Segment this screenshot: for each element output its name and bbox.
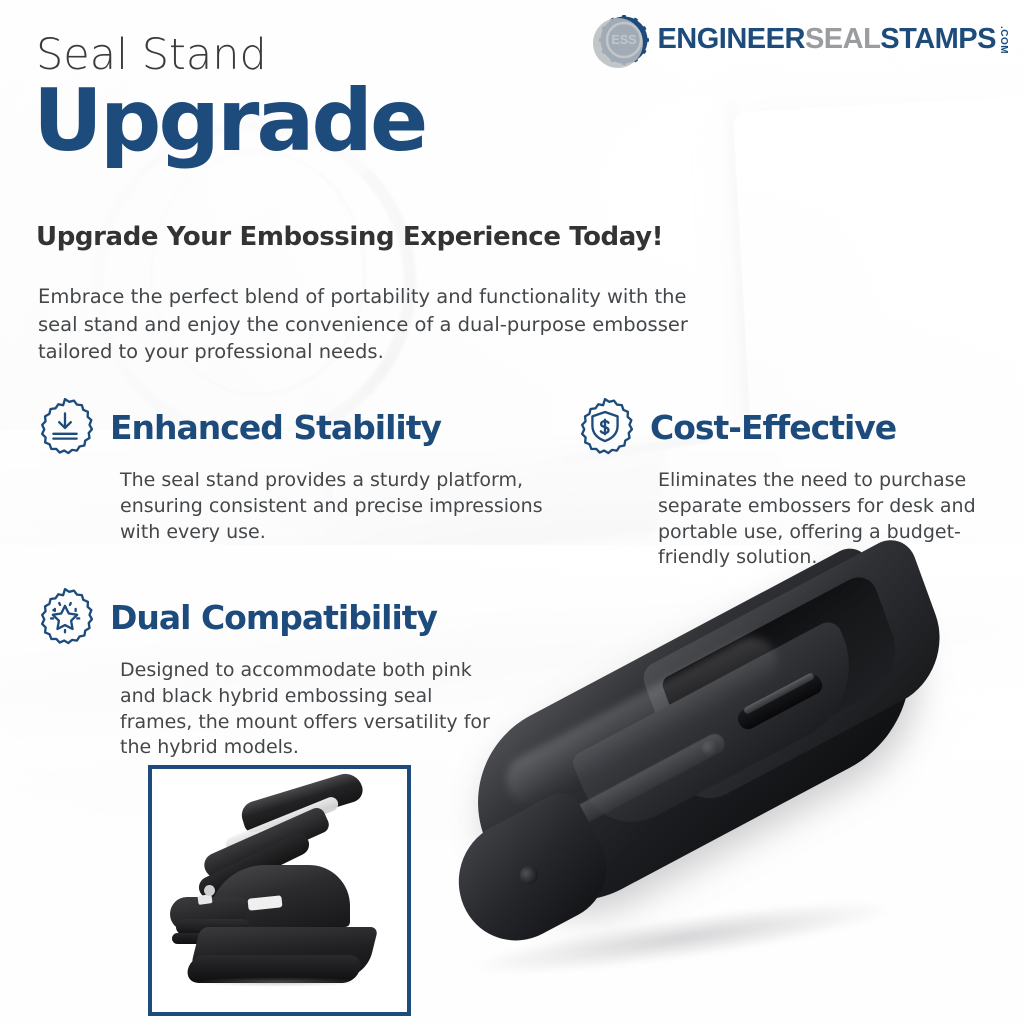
feature-header: Enhanced Stability: [34, 396, 544, 458]
infographic-canvas: ESS ENGINEER SEAL STAMPS .COM Seal Stand…: [0, 0, 1024, 1024]
brand-logo[interactable]: ESS ENGINEER SEAL STAMPS .COM: [599, 14, 1008, 66]
ess-gear-badge-icon: ESS: [599, 15, 649, 65]
inset-product-photo: [148, 765, 411, 1016]
page-title: Upgrade: [33, 78, 425, 164]
feature-body: The seal stand provides a sturdy platfor…: [120, 468, 544, 545]
feature-dual-compatibility: Dual Compatibility Designed to accommoda…: [34, 586, 504, 761]
wordmark-engineer: ENGINEER: [657, 25, 804, 54]
wordmark-seal: SEAL: [805, 25, 880, 54]
star-sparkle-badge-icon: [34, 586, 96, 648]
feature-cost-effective: Cost-Effective Eliminates the need to pu…: [574, 396, 1004, 571]
page-subheading: Upgrade Your Embossing Experience Today!: [36, 222, 663, 252]
feature-body: Designed to accommodate both pink and bl…: [120, 658, 504, 761]
shield-dollar-badge-icon: [574, 396, 636, 458]
feature-title: Cost-Effective: [650, 408, 896, 447]
brand-wordmark: ENGINEER SEAL STAMPS .COM: [657, 25, 1008, 54]
feature-header: Cost-Effective: [574, 396, 1004, 458]
download-press-badge-icon: [34, 396, 96, 458]
page-lede-paragraph: Embrace the perfect blend of portability…: [38, 283, 710, 366]
feature-header: Dual Compatibility: [34, 586, 504, 648]
wordmark-tld: .COM: [998, 26, 1008, 54]
feature-enhanced-stability: Enhanced Stability The seal stand provid…: [34, 396, 544, 545]
wordmark-stamps: STAMPS: [880, 25, 996, 54]
embosser-pivot-pin: [204, 885, 215, 896]
embosser-shadow: [192, 977, 364, 987]
feature-title: Dual Compatibility: [110, 598, 437, 637]
main-product-seal-stand: [452, 588, 1024, 1024]
handheld-embosser-image: [152, 769, 407, 1012]
feature-title: Enhanced Stability: [110, 408, 441, 447]
